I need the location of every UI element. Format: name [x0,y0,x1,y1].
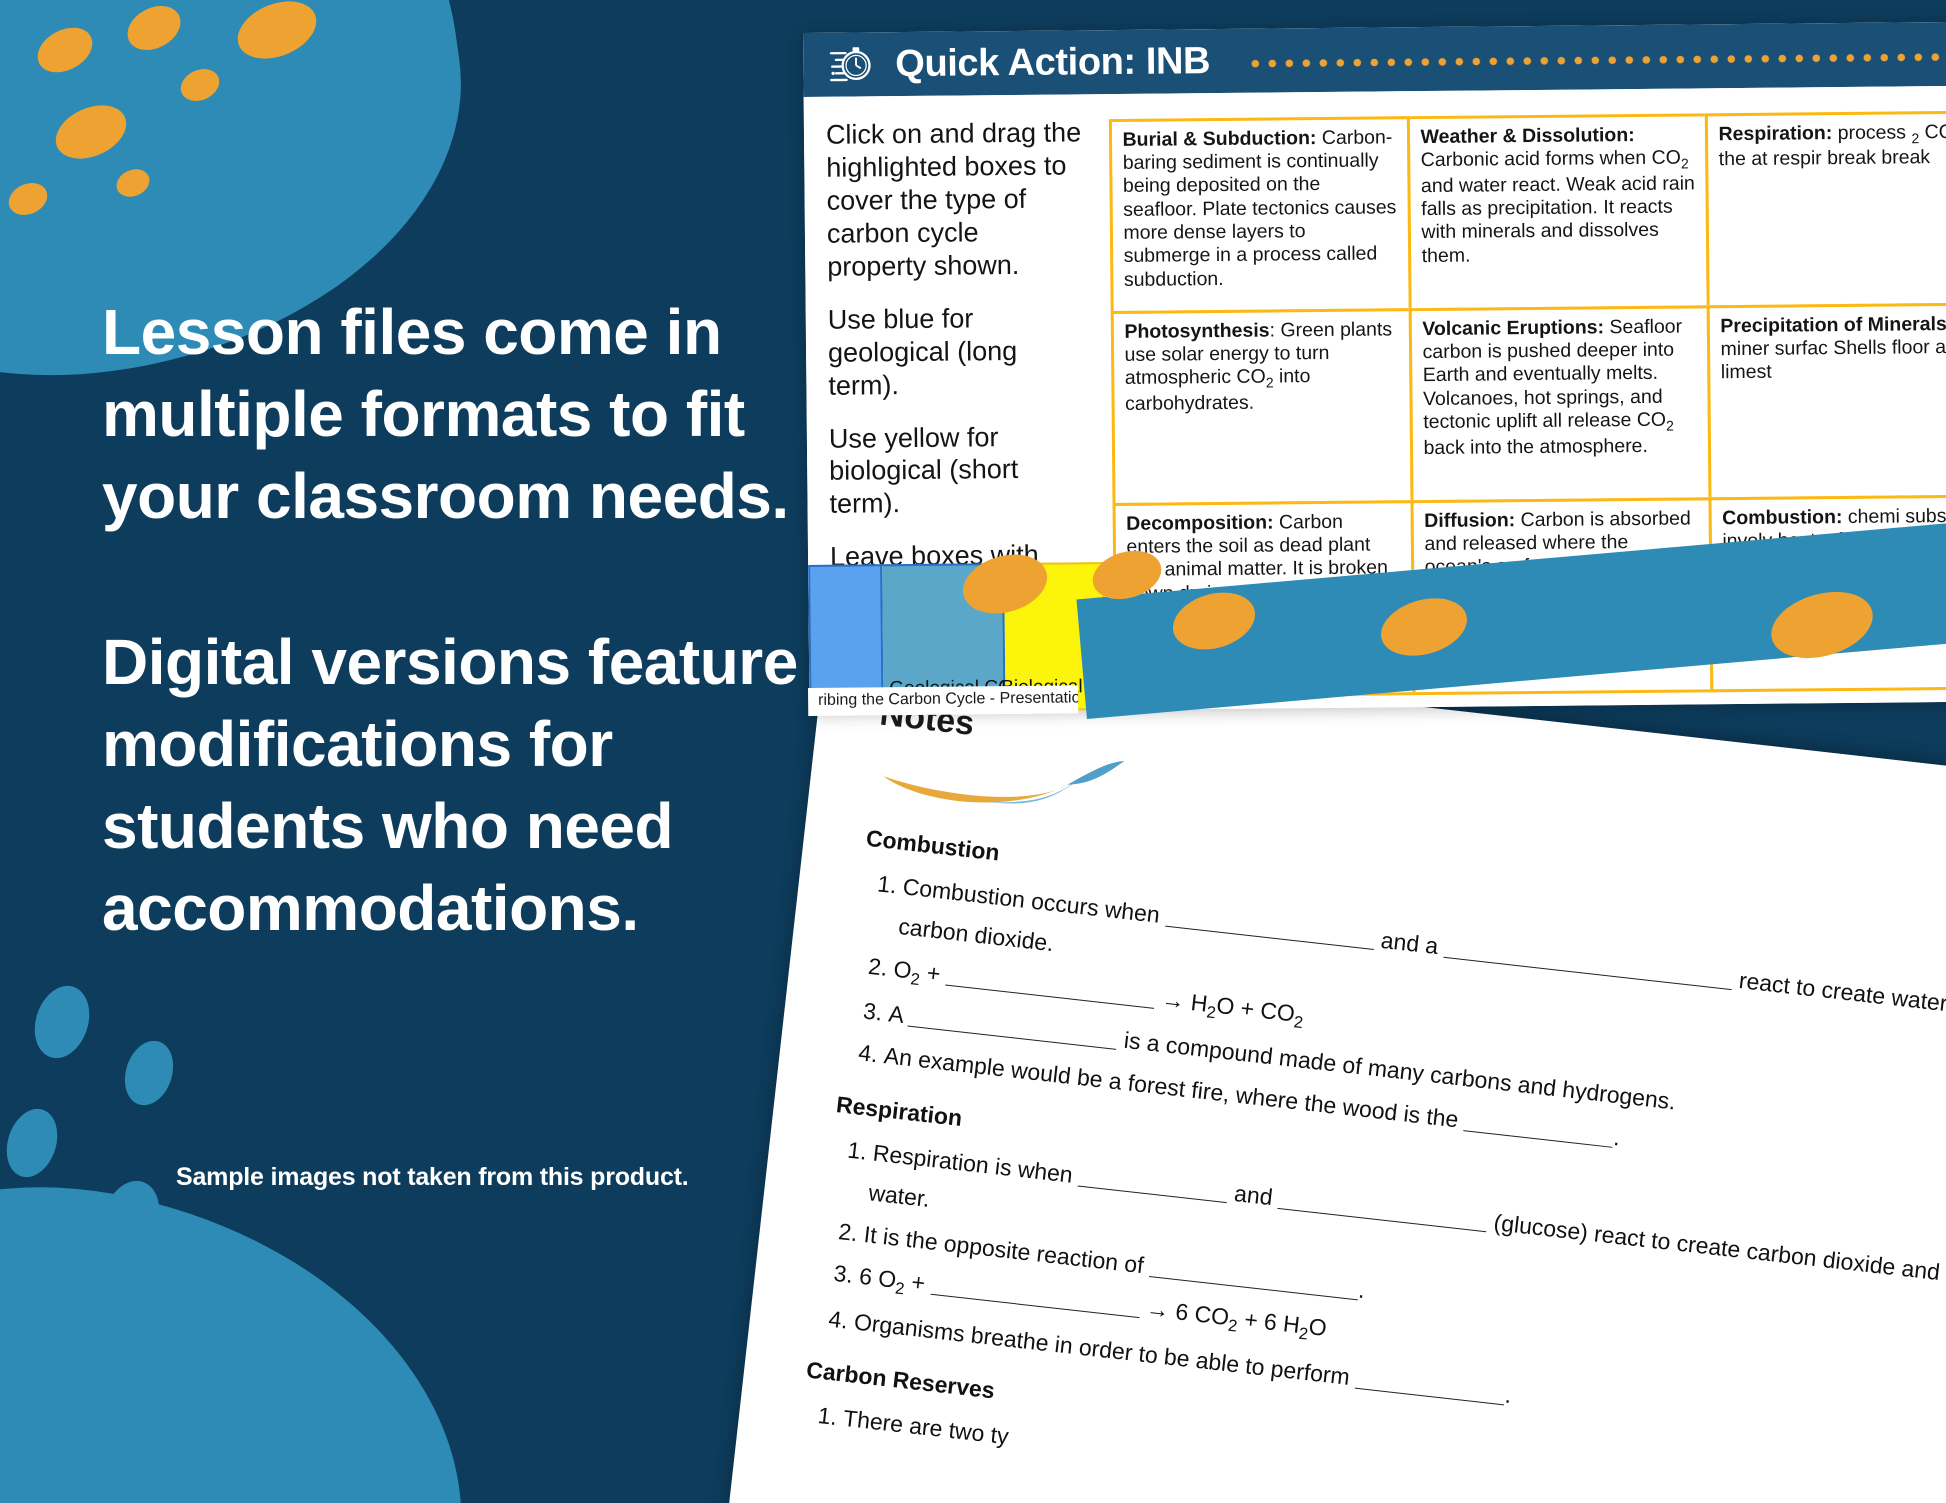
slide-header: Quick Action: INB [803,21,1946,97]
slide-title: Quick Action: INB [895,40,1210,86]
decorative-dot [0,1102,66,1183]
carbon-card[interactable]: Respiration: process 2 CO is the at resp… [1704,110,1946,308]
headline-secondary: Digital versions feature modifications f… [102,622,822,950]
headline-primary: Lesson files come in multiple formats to… [102,292,812,538]
disclaimer-text: Sample images not taken from this produc… [176,1163,689,1192]
slide-caption: ribing the Carbon Cycle - Presentation [808,685,1078,716]
instruction-line: Use blue for geological (long term). [828,301,1087,402]
notes-document: Notes Combustion Combustion occurs when … [721,640,1946,1503]
instruction-line: Use yellow for biological (short term). [829,420,1088,521]
instruction-line: Click on and drag the highlighted boxes … [826,116,1086,283]
carbon-card[interactable]: Weather & Dissolution: Carbonic acid for… [1406,113,1709,311]
instructions-panel: Click on and drag the highlighted boxes … [804,108,1106,713]
dotted-rule [1250,51,1946,68]
carbon-card[interactable]: Volcanic Eruptions: Seafloor carbon is p… [1408,305,1711,503]
decorative-dot [117,1035,181,1112]
carbon-card[interactable]: Precipitation of Minerals: miner surfac … [1706,302,1946,500]
blank-line[interactable] [1278,1183,1489,1231]
carbon-card[interactable]: Photosynthesis: Green plants use solar e… [1110,308,1413,506]
carbon-card[interactable]: Burial & Subduction: Carbon-baring sedim… [1108,116,1411,314]
blank-line[interactable] [1078,1161,1230,1203]
decorative-dot [26,979,98,1065]
stopwatch-icon [827,41,873,87]
blank-line[interactable] [1165,902,1376,950]
promo-canvas: Lesson files come in multiple formats to… [0,0,1946,1503]
